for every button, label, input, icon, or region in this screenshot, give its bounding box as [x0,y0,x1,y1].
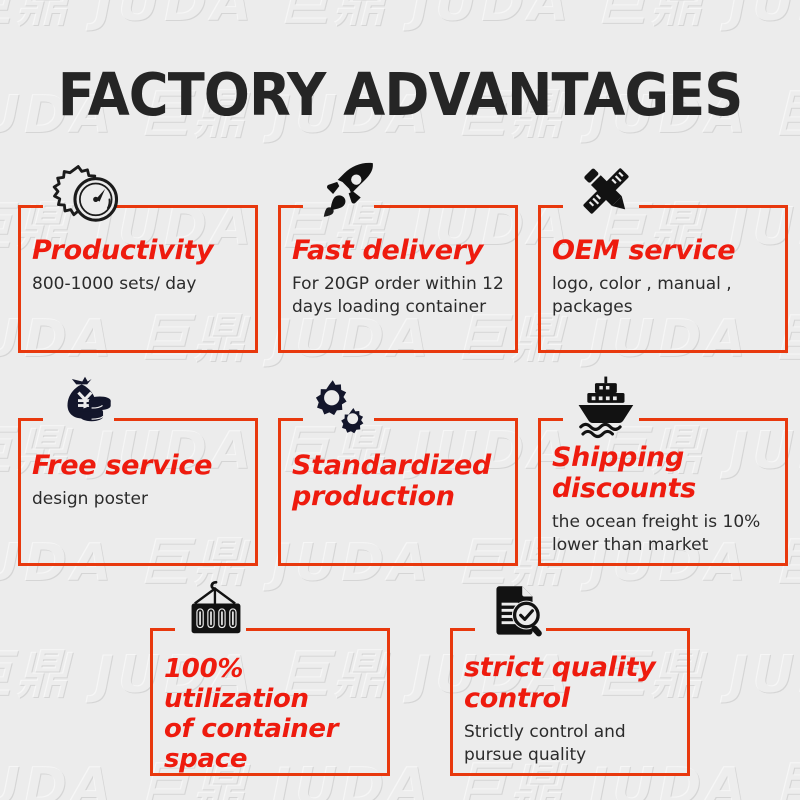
document-magnifier-check-icon [482,580,548,646]
card-content: OEM service logo, color , manual , packa… [552,235,776,319]
advantage-card-standardized-production[interactable]: Standardized production [278,418,518,566]
card-title: 100% utilization of container space [164,654,378,774]
card-content: Shipping discounts the ocean freight is … [552,442,776,557]
card-frame-top-right-segment [546,628,687,631]
card-subtitle: design poster [32,488,246,511]
advantage-card-productivity[interactable]: Productivity 800-1000 sets/ day [18,205,258,353]
card-title: strict quality control [464,652,678,714]
gears-icon [308,374,374,440]
card-frame-top-left-stub [21,418,43,421]
card-frame-top-right-segment [639,418,785,421]
gear-speedometer-icon [52,160,122,230]
card-frame-top-left-stub [453,628,475,631]
card-frame-top-right-segment [246,628,387,631]
card-content: Productivity 800-1000 sets/ day [32,235,246,296]
card-frame-top-right-segment [639,205,785,208]
card-subtitle: the ocean freight is 10% lower than mark… [552,511,776,557]
card-frame-top-left-stub [541,418,563,421]
card-frame-top-left-stub [21,205,43,208]
cargo-ship-icon [572,370,642,440]
card-frame-top-right-segment [374,205,515,208]
card-frame-top-left-stub [281,418,303,421]
card-frame-top-left-stub [281,205,303,208]
card-title: OEM service [552,235,776,266]
card-title: Standardized production [292,450,506,512]
page-title: FACTORY ADVANTAGES [58,64,743,126]
card-subtitle: For 20GP order within 12 days loading co… [292,273,506,319]
card-subtitle: logo, color , manual , packages [552,273,776,319]
card-frame-top-left-stub [541,205,563,208]
card-content: Fast delivery For 20GP order within 12 d… [292,235,506,319]
card-title: Productivity [32,235,246,266]
card-frame-top-right-segment [374,418,515,421]
advantage-card-fast-delivery[interactable]: Fast delivery For 20GP order within 12 d… [278,205,518,353]
card-subtitle: Strictly control and pursue quality [464,721,678,767]
card-content: 100% utilization of container space [164,654,378,781]
card-content: Standardized production [292,450,506,519]
advantage-card-shipping-discounts[interactable]: Shipping discounts the ocean freight is … [538,418,788,566]
page-header: FACTORY ADVANTAGES [0,64,800,126]
card-subtitle: 800-1000 sets/ day [32,273,246,296]
rocket-icon [314,158,380,224]
card-title: Fast delivery [292,235,506,266]
card-title: Shipping discounts [552,442,776,504]
hoisted-container-icon [182,578,250,646]
card-frame-top-left-stub [153,628,175,631]
advantage-card-quality-control[interactable]: strict quality control Strictly control … [450,628,690,776]
card-content: strict quality control Strictly control … [464,652,678,767]
pencil-ruler-icon [572,157,640,225]
advantage-card-container-utilization[interactable]: 100% utilization of container space [150,628,390,776]
advantage-card-oem-service[interactable]: OEM service logo, color , manual , packa… [538,205,788,353]
card-frame-top-right-segment [114,418,255,421]
card-content: Free service design poster [32,450,246,511]
money-bag-coins-icon [50,368,120,438]
card-frame-top-right-segment [114,205,255,208]
card-title: Free service [32,450,246,481]
advantage-card-free-service[interactable]: Free service design poster [18,418,258,566]
